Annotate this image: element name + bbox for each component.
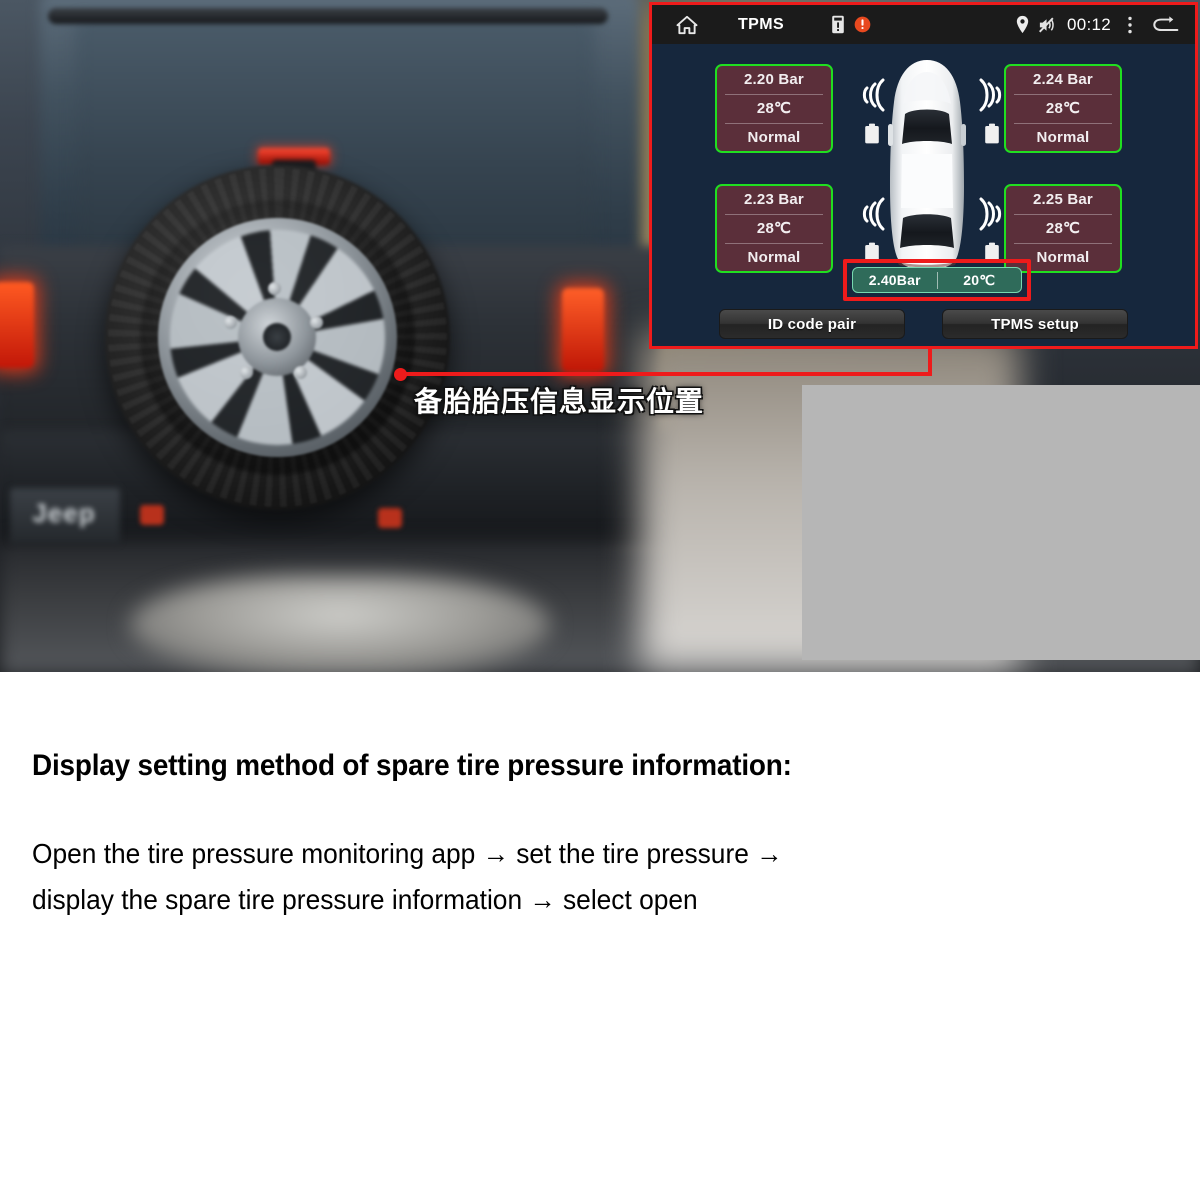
signal-waves-icon: [857, 77, 888, 113]
tpms-warning-light-icon[interactable]: [854, 16, 871, 33]
lug-nut: [224, 316, 237, 329]
vehicle-top-view: [875, 58, 979, 273]
spare-pressure-value: 2.40Bar: [853, 272, 937, 288]
tire-status-value: Normal: [1014, 123, 1112, 152]
tire-status-value: Normal: [725, 243, 823, 272]
back-arrow-icon[interactable]: [1152, 15, 1179, 34]
tire-temperature-value: 28℃: [1014, 214, 1112, 243]
bumper-reflector-left: [140, 505, 164, 525]
instructions-title: Display setting method of spare tire pre…: [32, 749, 792, 783]
overflow-menu-icon[interactable]: [1127, 15, 1133, 35]
roof-rack: [48, 8, 608, 24]
location-pin-icon[interactable]: [1016, 15, 1029, 34]
signal-waves-icon: [976, 77, 1007, 113]
app-title: TPMS: [738, 16, 784, 34]
tire-temperature-value: 28℃: [725, 214, 823, 243]
tire-card-rear-right[interactable]: 2.25 Bar 28℃ Normal: [1004, 184, 1122, 273]
tpms-head-unit: TPMS: [649, 2, 1198, 349]
placeholder-block: [802, 385, 1200, 660]
callout-caption: 备胎胎压信息显示位置: [414, 380, 704, 420]
sensor-battery-icon: [864, 242, 880, 263]
tire-temperature-value: 28℃: [725, 94, 823, 123]
tpms-main-panel: 2.20 Bar 28℃ Normal 2.24 Bar 28℃ Normal …: [652, 44, 1195, 349]
jeep-badge: Jeep: [14, 498, 114, 529]
sensor-warning-icon[interactable]: [831, 15, 845, 34]
tire-card-front-right[interactable]: 2.24 Bar 28℃ Normal: [1004, 64, 1122, 153]
home-icon[interactable]: [676, 15, 698, 35]
id-code-pair-button[interactable]: ID code pair: [719, 309, 905, 339]
instructions-line-2: display the spare tire pressure informat…: [32, 884, 698, 916]
bumper-reflector-right: [378, 508, 402, 528]
tire-status-value: Normal: [725, 123, 823, 152]
tire-pressure-value: 2.25 Bar: [1014, 186, 1112, 214]
tpms-setup-button[interactable]: TPMS setup: [942, 309, 1128, 339]
signal-waves-icon: [857, 196, 888, 232]
taillight-left-icon: [0, 282, 34, 368]
page-root: Jeep 备胎胎压信息显示位置 TPMS: [0, 0, 1200, 1200]
tire-pressure-value: 2.20 Bar: [725, 66, 823, 94]
ground-rock: [130, 575, 550, 672]
lug-nut: [294, 366, 307, 379]
lug-nut: [310, 316, 323, 329]
tire-pressure-value: 2.23 Bar: [725, 186, 823, 214]
clock: 00:12: [1067, 15, 1111, 35]
instructions-line-1: Open the tire pressure monitoring app → …: [32, 838, 782, 870]
tire-temperature-value: 28℃: [1014, 94, 1112, 123]
sensor-battery-icon: [984, 242, 1000, 263]
spare-tire-readout[interactable]: 2.40Bar 20℃: [852, 267, 1022, 293]
signal-waves-icon: [976, 196, 1007, 232]
taillight-right-icon: [562, 288, 604, 372]
callout-line-horizontal: [400, 372, 932, 376]
spare-temperature-value: 20℃: [938, 272, 1022, 289]
lug-nut: [268, 282, 281, 295]
wheel-hub-center: [263, 323, 291, 351]
tire-pressure-value: 2.24 Bar: [1014, 66, 1112, 94]
tire-status-value: Normal: [1014, 243, 1112, 272]
status-bar: TPMS: [652, 5, 1195, 44]
volume-mute-icon[interactable]: [1037, 16, 1055, 34]
sensor-battery-icon: [864, 123, 880, 144]
callout-dot-tire: [394, 368, 407, 381]
lug-nut: [240, 366, 253, 379]
sensor-battery-icon: [984, 123, 1000, 144]
tire-card-front-left[interactable]: 2.20 Bar 28℃ Normal: [715, 64, 833, 153]
tire-card-rear-left[interactable]: 2.23 Bar 28℃ Normal: [715, 184, 833, 273]
